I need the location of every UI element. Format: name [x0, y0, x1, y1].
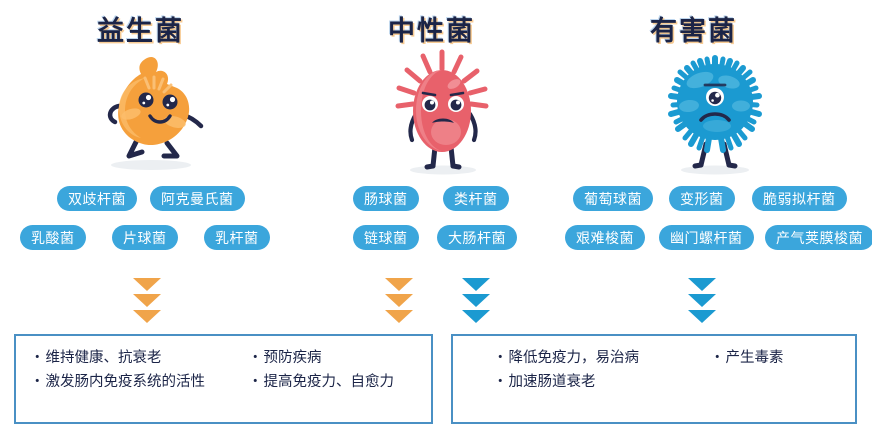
neutral-bacteria-character [390, 44, 495, 181]
chevron-down-icon [133, 278, 161, 291]
pill-streptococcus[interactable]: 链球菌 [353, 225, 419, 250]
column-title-probiotic: 益生菌 [97, 9, 184, 48]
harmful-bacteria-character [655, 44, 775, 181]
chevron-down-icon [133, 310, 161, 323]
bullet-item: 预防疾病 [248, 348, 394, 368]
chevron-down-icon [688, 294, 716, 307]
pill-escherichia-coli[interactable]: 大肠杆菌 [437, 225, 517, 250]
bullet-item: 加速肠道衰老 [493, 372, 639, 392]
bullet-item: 维持健康、抗衰老 [30, 348, 205, 368]
bullet-item: 提高免疫力、自愈力 [248, 372, 394, 392]
pill-staphylococcus[interactable]: 葡萄球菌 [573, 186, 653, 211]
pill-akkermansia[interactable]: 阿克曼氏菌 [150, 186, 245, 211]
pill-clostridium-difficile[interactable]: 艰难梭菌 [565, 225, 645, 250]
chevron-stack-harmful-blue [688, 278, 716, 323]
chevron-down-icon [462, 278, 490, 291]
chevron-stack-neutral-orange [385, 278, 413, 323]
pill-pediococcus[interactable]: 片球菌 [112, 225, 178, 250]
chevron-down-icon [688, 310, 716, 323]
infographic-canvas: 益生菌 中性菌 有害菌 [0, 0, 872, 436]
bullet-list-good-column-a: 维持健康、抗衰老 激发肠内免疫系统的活性 [30, 348, 205, 392]
bullet-item: 产生毒素 [710, 348, 784, 368]
pill-enterococcus[interactable]: 肠球菌 [353, 186, 419, 211]
pill-bacteroides-fragilis[interactable]: 脆弱拟杆菌 [752, 186, 847, 211]
chevron-stack-neutral-blue [462, 278, 490, 323]
probiotic-bacteria-character [85, 48, 215, 178]
pill-helicobacter-pylori[interactable]: 幽门螺杆菌 [659, 225, 754, 250]
chevron-down-icon [385, 278, 413, 291]
pill-proteobacteria[interactable]: 变形菌 [669, 186, 735, 211]
chevron-down-icon [385, 294, 413, 307]
bullet-item: 激发肠内免疫系统的活性 [30, 372, 205, 392]
pill-lactobacillus[interactable]: 乳杆菌 [204, 225, 270, 250]
chevron-down-icon [385, 310, 413, 323]
bullet-list-bad-column-a: 降低免疫力，易治病 加速肠道衰老 [493, 348, 639, 392]
bullet-item: 降低免疫力，易治病 [493, 348, 639, 368]
column-title-neutral: 中性菌 [388, 9, 475, 48]
chevron-down-icon [133, 294, 161, 307]
chevron-down-icon [462, 310, 490, 323]
bullet-list-good-column-b: 预防疾病 提高免疫力、自愈力 [248, 348, 394, 392]
pill-lactic-acid-bacteria[interactable]: 乳酸菌 [20, 225, 86, 250]
pill-bifidobacterium[interactable]: 双歧杆菌 [57, 186, 137, 211]
chevron-down-icon [688, 278, 716, 291]
chevron-stack-probiotic-orange [133, 278, 161, 323]
pill-bacteroides[interactable]: 类杆菌 [443, 186, 509, 211]
pill-clostridium-perfringens[interactable]: 产气荚膜梭菌 [765, 225, 872, 250]
bullet-list-bad-column-b: 产生毒素 [710, 348, 784, 368]
column-title-harmful: 有害菌 [650, 9, 737, 48]
chevron-down-icon [462, 294, 490, 307]
